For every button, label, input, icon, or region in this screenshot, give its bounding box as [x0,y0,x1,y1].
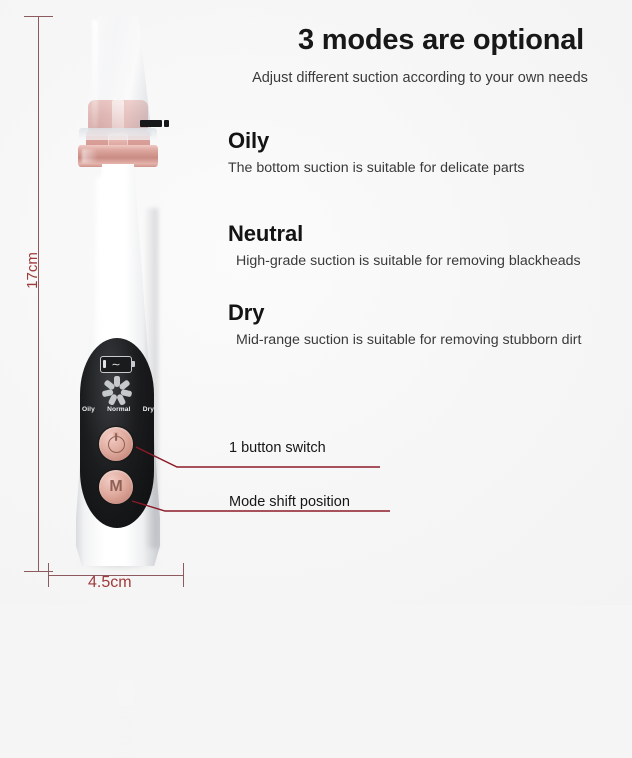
mode-button-label: M [109,479,122,495]
height-dimension-line [38,16,39,572]
cap-label-tick-small [164,120,169,127]
mode-name: Neutral [228,221,581,247]
callout-label-mode-button: Mode shift position [229,494,350,510]
mode-button[interactable]: M [99,470,133,504]
power-button[interactable] [99,427,133,461]
mode-block-dry: Dry Mid-range suction is suitable for re… [228,300,581,350]
battery-wave-glyph: ∼ [111,359,120,370]
cap-label-tick [140,120,162,127]
collar-highlight [82,149,98,163]
width-dimension-label: 4.5cm [88,574,132,592]
width-dimension-cap-left [48,563,49,587]
panel-highlight [116,678,136,758]
cap-highlight [92,20,98,128]
flower-petals-icon [101,376,131,406]
panel-mode-labels: Oily Normal Dry [82,406,154,413]
height-dimension-cap-top [24,16,53,17]
panel-mode-normal: Normal [107,406,130,413]
battery-icon: ∼ [100,356,132,373]
mode-name: Dry [228,300,581,326]
panel-mode-oily: Oily [82,406,95,413]
mode-block-oily: Oily The bottom suction is suitable for … [228,128,525,178]
mode-description: The bottom suction is suitable for delic… [228,158,525,178]
page-title: 3 modes are optional [266,24,616,57]
product-device-illustration: ∼ Oily Normal Dry M [52,8,184,570]
mode-description: Mid-range suction is suitable for removi… [236,330,581,350]
height-dimension-label: 17cm [24,252,41,289]
mode-description: High-grade suction is suitable for remov… [236,251,581,271]
infographic-canvas: 17cm 4.5cm ∼ Oily Normal [0,0,632,605]
power-icon [108,436,125,453]
mode-block-neutral: Neutral High-grade suction is suitable f… [228,221,581,271]
panel-mode-dry: Dry [143,406,154,413]
mode-name: Oily [228,128,525,154]
cap-rim [79,128,157,140]
page-subtitle: Adjust different suction according to yo… [220,70,620,86]
callout-label-power-button: 1 button switch [229,440,326,456]
battery-level-bar [103,360,106,368]
